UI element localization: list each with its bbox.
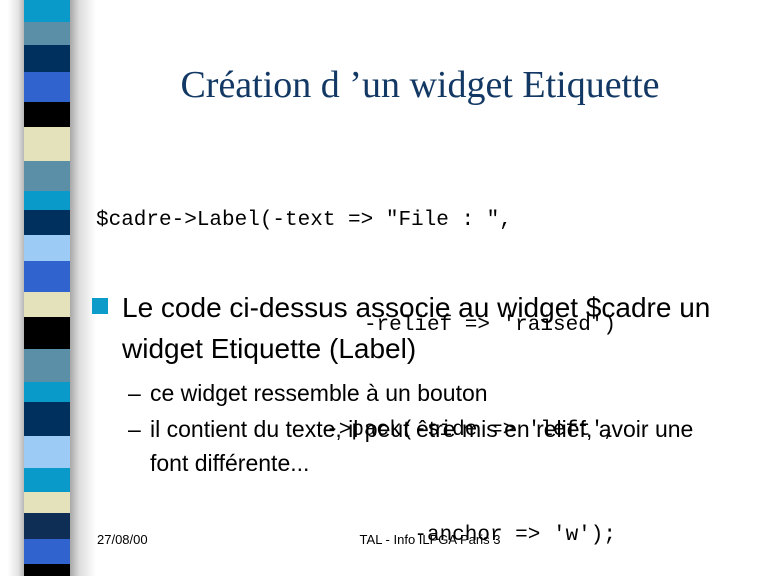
- stripe-band-19: [24, 513, 72, 539]
- square-bullet-icon: [92, 298, 108, 314]
- stripe-band-8: [24, 210, 72, 235]
- stripe-band-15: [24, 402, 72, 436]
- stripe-band-12: [24, 317, 72, 349]
- stripe-band-17: [24, 468, 72, 492]
- stripe-band-3: [24, 72, 72, 102]
- stripe-band-16: [24, 436, 72, 468]
- page-title: Création d ’un widget Etiquette: [96, 62, 744, 108]
- sub-bullet-list: – ce widget ressemble à un bouton – il c…: [128, 376, 728, 482]
- stripe-band-11: [24, 292, 72, 317]
- slide-canvas: Création d ’un widget Etiquette $cadre->…: [0, 0, 768, 576]
- stripe-color-bands: [24, 0, 72, 576]
- dash-bullet-icon: –: [128, 412, 150, 446]
- stripe-shadow-left: [0, 0, 26, 576]
- dash-bullet-icon: –: [128, 376, 150, 410]
- sub-bullet-item: – il contient du texte, il peut être mis…: [128, 412, 728, 480]
- sub-bullet-item: – ce widget ressemble à un bouton: [128, 376, 728, 410]
- stripe-band-0: [24, 0, 72, 22]
- footer-center-text: TAL - Info ILPGA Paris 3: [240, 531, 620, 549]
- stripe-band-20: [24, 539, 72, 564]
- stripe-band-9: [24, 235, 72, 261]
- footer-date: 27/08/00: [97, 531, 148, 549]
- bullet-item-main: Le code ci-dessus associe au widget $cad…: [92, 287, 732, 369]
- stripe-band-18: [24, 492, 72, 513]
- stripe-band-10: [24, 261, 72, 292]
- stripe-band-6: [24, 161, 72, 191]
- stripe-band-21: [24, 564, 72, 576]
- decorative-stripe: [0, 0, 96, 576]
- stripe-band-4: [24, 102, 72, 127]
- stripe-band-7: [24, 191, 72, 210]
- stripe-band-1: [24, 22, 72, 45]
- stripe-band-14: [24, 382, 72, 402]
- sub-bullet-text: ce widget ressemble à un bouton: [150, 376, 728, 410]
- code-line-1: $cadre->Label(-text => "File : ",: [96, 203, 616, 238]
- stripe-band-13: [24, 349, 72, 382]
- sub-bullet-text: il contient du texte, il peut être mis e…: [150, 412, 728, 480]
- stripe-band-5: [24, 127, 72, 161]
- stripe-band-2: [24, 45, 72, 72]
- bullet-main-text: Le code ci-dessus associe au widget $cad…: [122, 287, 732, 369]
